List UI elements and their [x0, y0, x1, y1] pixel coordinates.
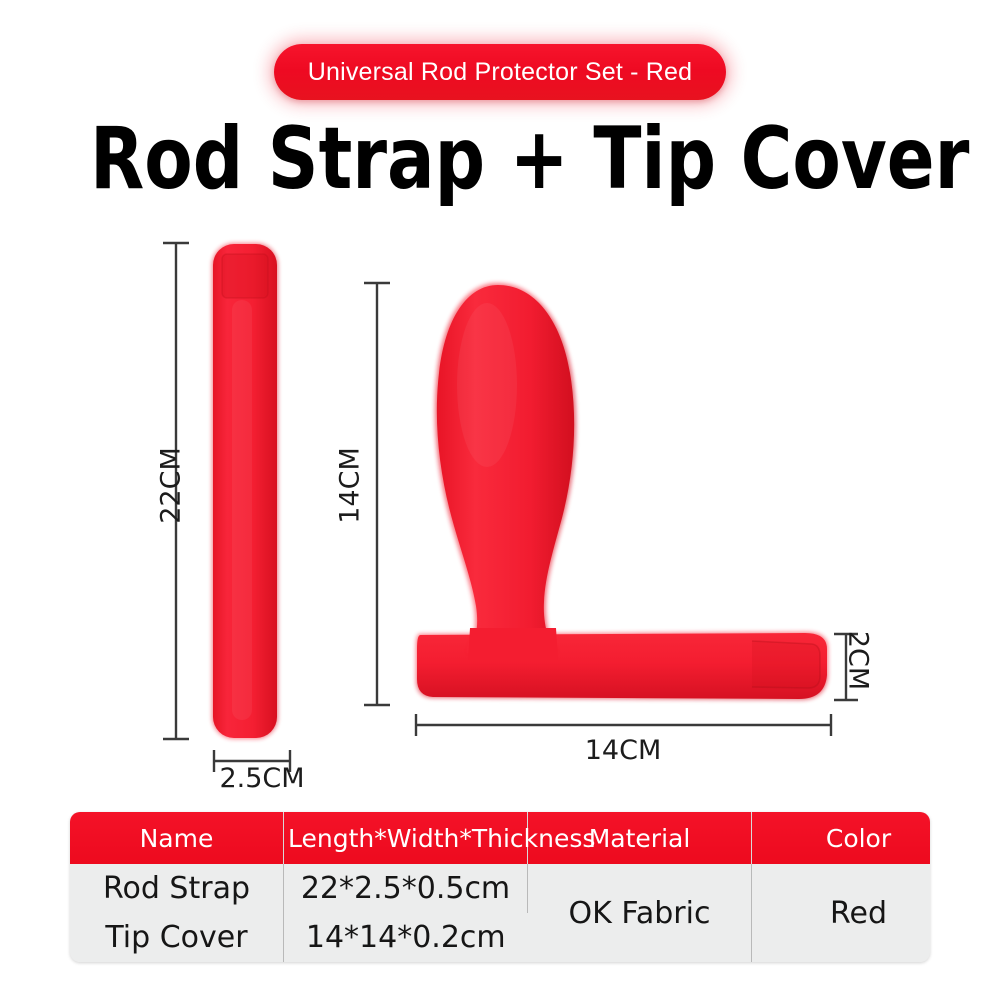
cell-color: Red — [752, 864, 931, 962]
dimension-label-cover-height: 14CM — [335, 446, 366, 526]
page-title: Rod Strap + Tip Cover — [90, 116, 910, 202]
specification-table: Name Length*Width*Thickness Material Col… — [70, 812, 930, 962]
column-header-dims: Length*Width*Thickness — [284, 812, 528, 864]
product-badge: Universal Rod Protector Set - Red — [274, 44, 727, 100]
cell-name-tip-cover: Tip Cover — [70, 913, 284, 962]
column-header-color: Color — [752, 812, 931, 864]
dimension-label-cover-strap-width: 2CM — [843, 629, 874, 693]
table-header-row: Name Length*Width*Thickness Material Col… — [70, 812, 930, 864]
cell-dims-rod-strap: 22*2.5*0.5cm — [284, 864, 528, 913]
cell-name-rod-strap: Rod Strap — [70, 864, 284, 913]
dimension-label-strap-width: 2.5CM — [212, 763, 312, 794]
badge-container: Universal Rod Protector Set - Red — [0, 44, 1000, 100]
tip-cover-graphic — [416, 283, 828, 700]
column-header-name: Name — [70, 812, 284, 864]
rod-strap-graphic — [212, 243, 278, 739]
badge-label: Universal Rod Protector Set - Red — [308, 58, 693, 87]
table-row: Rod Strap 22*2.5*0.5cm OK Fabric Red — [70, 864, 930, 913]
dimension-label-strap-height: 22CM — [156, 446, 187, 526]
cell-material: OK Fabric — [528, 864, 752, 962]
cell-dims-tip-cover: 14*14*0.2cm — [284, 913, 528, 962]
dimension-label-cover-width: 14CM — [573, 735, 673, 766]
dimension-lines — [163, 243, 858, 772]
